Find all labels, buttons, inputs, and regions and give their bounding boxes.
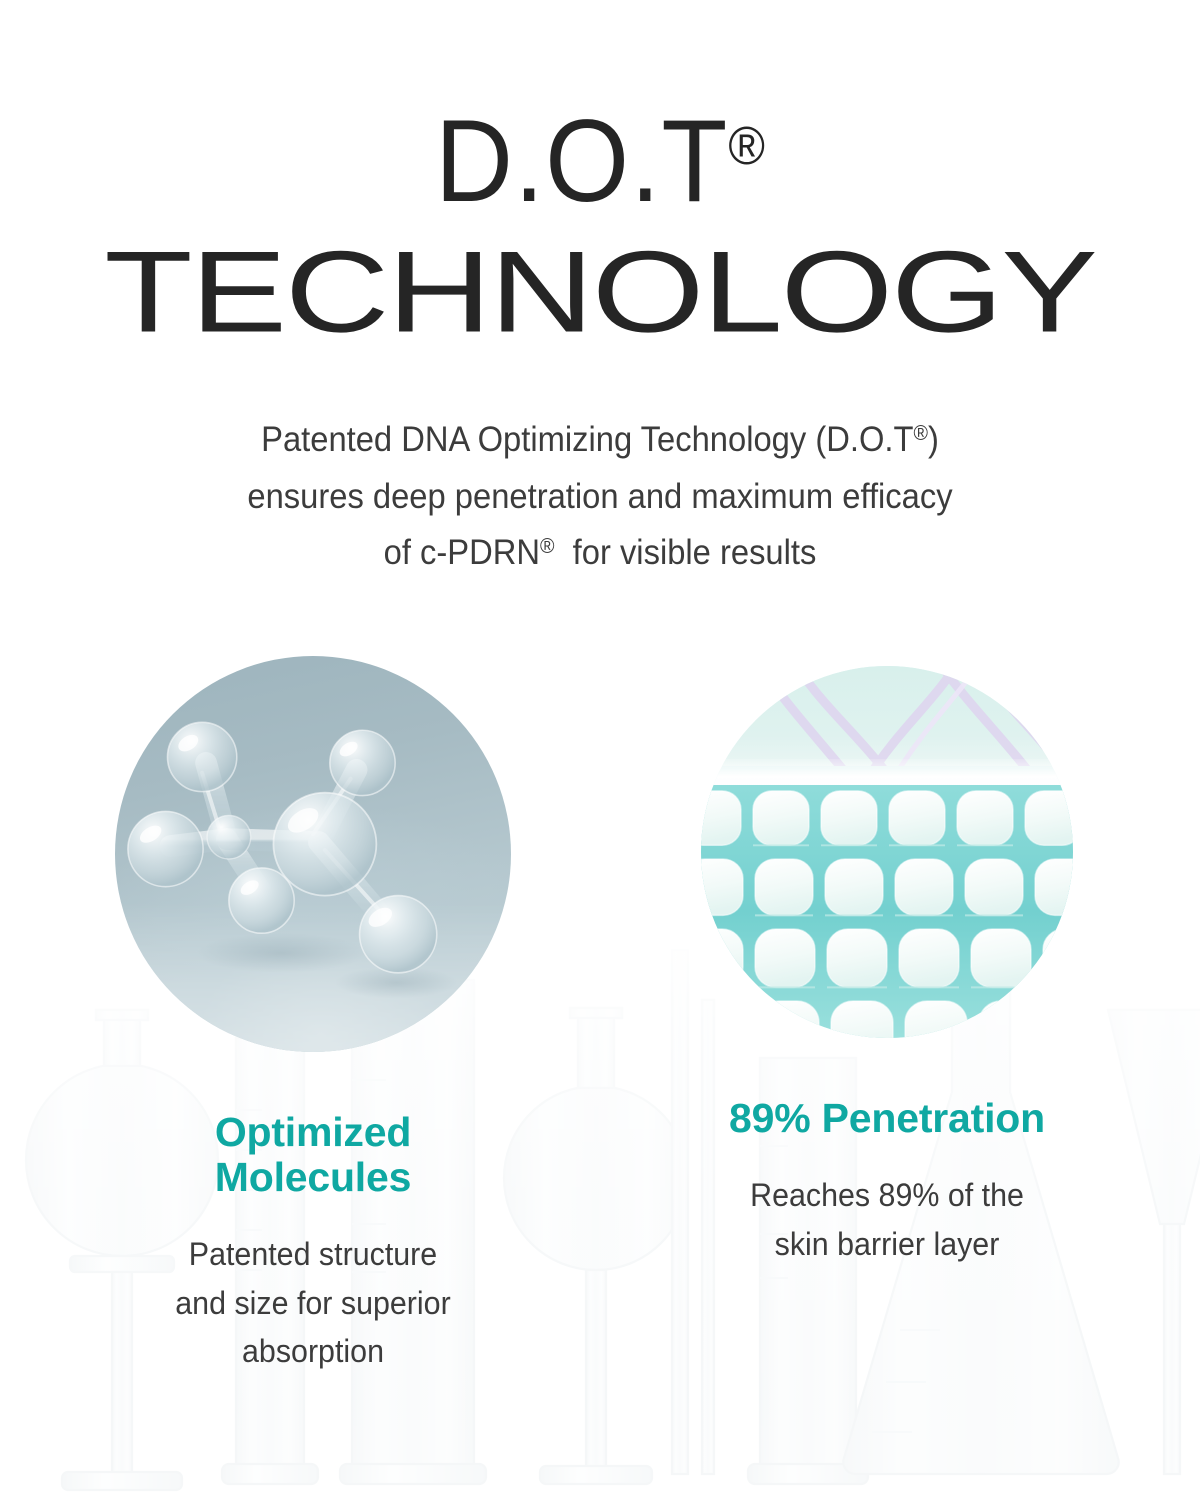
- subtitle-line-3-tail: for visible results: [554, 533, 816, 572]
- subtitle-line-1: Patented DNA Optimizing Technology (D.O.…: [39, 412, 1161, 469]
- skin-barrier-lattice-circle: [701, 666, 1073, 1038]
- feature-penetration: 89% Penetration Reaches 89% of the skin …: [687, 656, 1087, 1268]
- registered-trademark-icon: ®: [540, 535, 554, 558]
- feature-body-optimized-molecules: Patented structure and size for superior…: [123, 1200, 503, 1376]
- subtitle-line-3: of c-PDRN® for visible results: [39, 525, 1161, 582]
- header: D.O.T® TECHNOLOGY: [0, 0, 1200, 340]
- feature-body-penetration: Reaches 89% of the skin barrier layer: [697, 1141, 1077, 1268]
- feature-body-line: Patented structure: [123, 1230, 503, 1279]
- registered-trademark-icon: ®: [914, 422, 928, 445]
- dna-helix-icon: [701, 666, 1073, 766]
- skin-barrier-lattice-icon: [701, 785, 1073, 1038]
- subtitle: Patented DNA Optimizing Technology (D.O.…: [39, 340, 1161, 582]
- subtitle-line-2: ensures deep penetration and maximum eff…: [39, 469, 1161, 526]
- subtitle-line-1-text: Patented DNA Optimizing Technology (D.O.…: [261, 420, 913, 459]
- page-title-line-2: TECHNOLOGY: [0, 202, 1200, 350]
- subtitle-line-3-text: of c-PDRN: [384, 533, 540, 572]
- subtitle-line-1-tail: ): [928, 420, 939, 459]
- feature-list: Optimized Molecules Patented structure a…: [0, 656, 1200, 1376]
- dna-band-region: [701, 666, 1073, 766]
- molecule-render-circle: [115, 656, 511, 1052]
- feature-optimized-molecules: Optimized Molecules Patented structure a…: [113, 656, 513, 1376]
- feature-body-line: Reaches 89% of the: [697, 1171, 1077, 1220]
- feature-body-line: skin barrier layer: [697, 1220, 1077, 1269]
- feature-body-line: and size for superior: [123, 1279, 503, 1328]
- registered-trademark-icon: ®: [728, 116, 765, 176]
- page-title-line-1: D.O.T®: [0, 0, 1200, 218]
- molecule-icon: [115, 656, 511, 1052]
- feature-title-penetration: 89% Penetration: [687, 1038, 1087, 1141]
- feature-title-optimized-molecules: Optimized Molecules: [113, 1052, 513, 1200]
- feature-body-line: absorption: [123, 1327, 503, 1376]
